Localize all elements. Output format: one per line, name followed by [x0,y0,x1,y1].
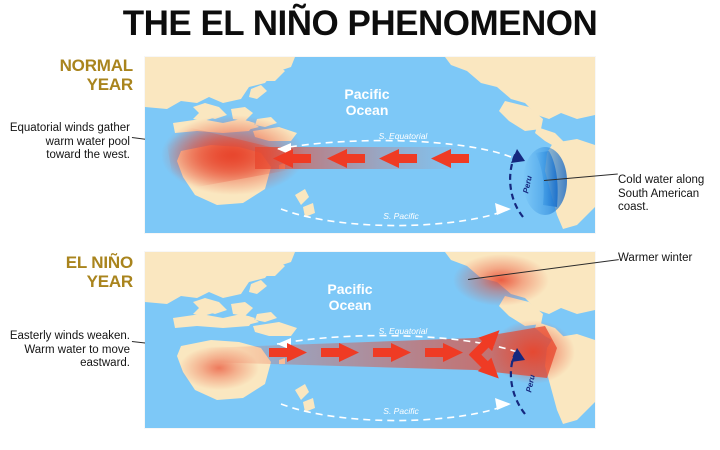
panel-label-el-nino-year: EL NIÑO YEAR [0,253,133,291]
current-label-s-equatorial: S. Equatorial [379,131,429,141]
current-label-s-pacific: S. Pacific [383,406,419,416]
panel-label-normal-line1: NORMAL [0,56,133,75]
panel-label-normal-line2: YEAR [0,75,133,94]
map-panel-el-nino-year: Pacific Ocean S. Equatorial S. Pacific P… [145,252,595,428]
current-label-s-equatorial: S. Equatorial [379,326,429,336]
page-title: THE EL NIÑO PHENOMENON [0,4,720,44]
ocean-label-line1: Pacific [344,86,389,102]
ocean-label-line1: Pacific [327,281,372,297]
caption-equatorial-winds: Equatorial winds gather warm water pool … [8,122,130,163]
infographic-root: THE EL NIÑO PHENOMENON NORMAL YEAR Equat… [0,0,720,450]
ocean-label-line2: Ocean [346,102,389,118]
ocean-label-line2: Ocean [329,297,372,313]
panel-label-elnino-line2: YEAR [0,272,133,291]
warm-pool-east-core [491,320,575,384]
panel-label-elnino-line1: EL NIÑO [0,253,133,272]
caption-warmer-winter: Warmer winter [618,252,718,266]
caption-cold-water: Cold water along South American coast. [618,174,718,215]
current-label-s-pacific: S. Pacific [383,211,419,221]
caption-easterly-winds: Easterly winds weaken. Warm water to mov… [8,330,130,371]
map-panel-normal-year: Pacific Ocean S. Equatorial S. Pacific P… [145,57,595,233]
panel-label-normal-year: NORMAL YEAR [0,56,133,94]
